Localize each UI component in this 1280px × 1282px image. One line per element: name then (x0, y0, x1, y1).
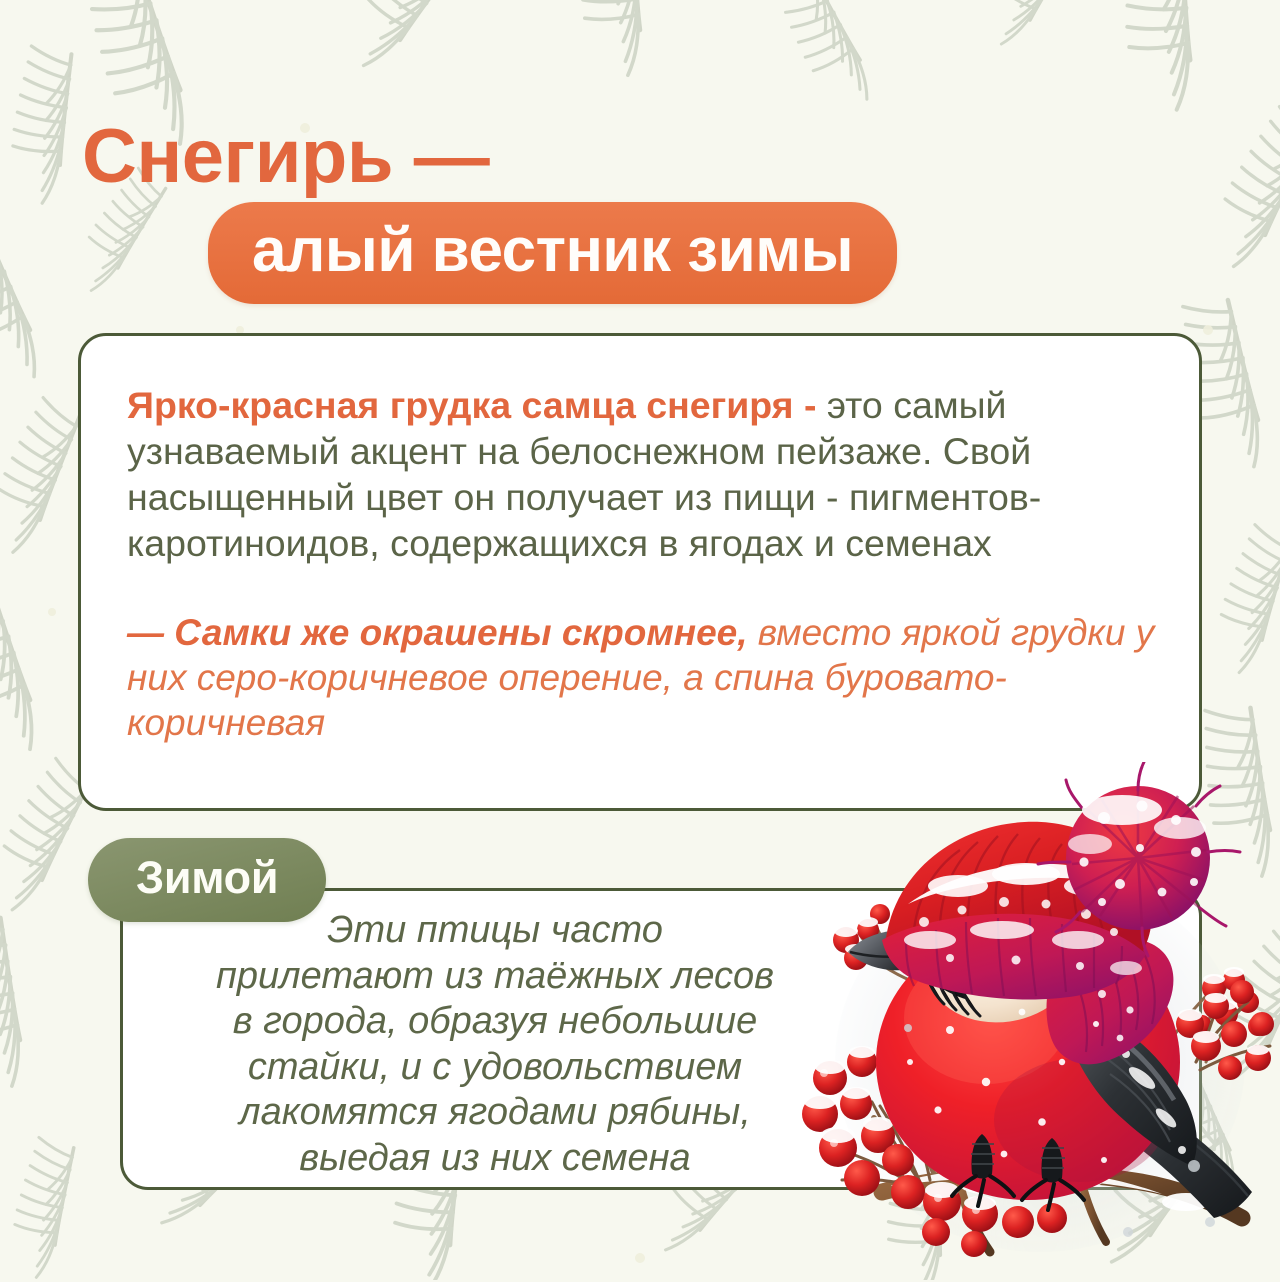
paragraph-male-lead: Ярко-красная грудка самца снегиря - (127, 384, 816, 426)
winter-body-text: Эти птицы часто прилетают из таёжных лес… (150, 908, 840, 1181)
title-pill-wrapper: алый вестник зимы (208, 202, 1280, 304)
title-subtitle-pill: алый вестник зимы (208, 202, 897, 304)
paragraph-female-lead: — Самки же окрашены скромнее, (127, 612, 748, 653)
page-title: Снегирь — алый вестник зимы (0, 118, 1280, 304)
paragraph-male-plumage: Ярко-красная грудка самца снегиря - это … (127, 382, 1155, 566)
paragraph-female-plumage: — Самки же окрашены скромнее, вместо ярк… (127, 610, 1155, 745)
main-info-card: Ярко-красная грудка самца снегиря - это … (78, 333, 1202, 811)
title-line-primary: Снегирь — (82, 118, 1280, 196)
